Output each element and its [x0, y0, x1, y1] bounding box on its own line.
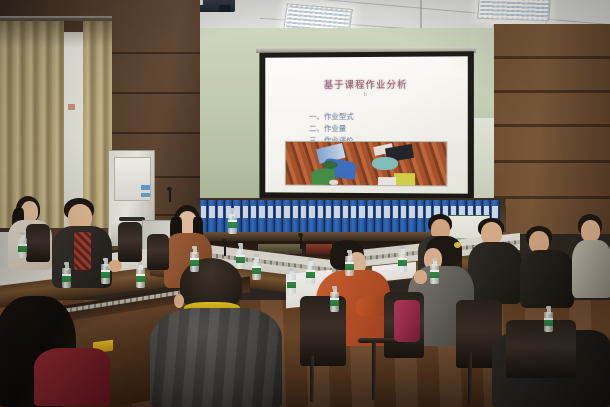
bottle-label: [330, 298, 339, 306]
air-conditioner-sticker: [141, 185, 150, 190]
binder: [267, 200, 275, 234]
bottle-label: [18, 244, 27, 252]
checked-shirt: [74, 232, 91, 270]
bottle-cap: [432, 258, 437, 261]
bottle-cap: [400, 246, 405, 249]
slide-embedded-photo: [285, 141, 447, 186]
slide-subtitle: b: [265, 92, 468, 99]
bottle-cap: [138, 262, 143, 265]
wood-panel-seam: [494, 160, 610, 163]
chair-leg: [310, 356, 314, 402]
desk-microphone-head: [222, 239, 227, 243]
bottle-cap: [238, 243, 243, 246]
water-bottle: [306, 258, 315, 284]
water-bottle: [18, 232, 27, 258]
binder: [350, 200, 358, 234]
bottle-cap: [546, 306, 551, 309]
bottle-cap: [230, 208, 235, 211]
water-bottle: [136, 262, 145, 288]
desk-microphone-head: [167, 187, 172, 191]
head: [581, 220, 600, 242]
desk-microphone-stem: [300, 236, 302, 249]
chair-leg: [372, 342, 376, 400]
binder: [400, 200, 408, 234]
projection-screen: 基于课程作业分析 b 一、作业型式 二、作业量 三、作业评价: [259, 51, 474, 201]
water-bottle: [287, 268, 296, 294]
person-right-edge-light: [572, 214, 610, 300]
chair: [118, 222, 142, 262]
binder: [250, 200, 258, 234]
water-bottle: [430, 258, 439, 284]
bottle-label: [62, 274, 71, 282]
binder: [258, 200, 266, 234]
person-far-right-edge: [520, 226, 576, 310]
binder: [325, 200, 333, 234]
conference-room-photo: 基于课程作业分析 b 一、作业型式 二、作业量 三、作业评价: [0, 0, 610, 407]
water-bottle: [101, 258, 110, 284]
right-wall-wood-panel: [494, 24, 610, 234]
bottle-label: [287, 280, 296, 288]
bottle-label: [398, 258, 407, 266]
desk-microphone-stem: [224, 242, 226, 256]
binder: [358, 200, 366, 234]
projection-screen-surface: 基于课程作业分析 b 一、作业型式 二、作业量 三、作业评价: [265, 56, 468, 193]
slide-photo-yellow-object: [394, 173, 415, 185]
bottle-cap: [308, 258, 313, 261]
slide-photo-paper: [378, 177, 396, 186]
water-bottle: [236, 243, 245, 269]
binder: [375, 200, 383, 234]
bottle-label: [544, 318, 553, 326]
water-bottle: [252, 254, 261, 280]
slide-title: 基于课程作业分析: [265, 77, 468, 92]
bottle-cap: [103, 258, 108, 261]
slide-photo-paper: [329, 180, 339, 185]
bottle-label: [430, 270, 439, 278]
slide-bullet-item: 二、作业量: [309, 123, 354, 135]
binder: [408, 200, 416, 234]
torso: [520, 250, 574, 308]
slide-photo-person-teal: [372, 157, 398, 170]
water-bottle: [62, 262, 71, 288]
bottle-label: [228, 220, 237, 228]
wood-panel-seam: [494, 90, 610, 93]
air-conditioner-sticker: [141, 193, 150, 197]
bottle-label: [252, 266, 261, 274]
bottle-cap: [20, 232, 25, 235]
bottle-cap: [254, 254, 259, 257]
bottle-label: [190, 258, 199, 266]
bottle-cap: [332, 286, 337, 289]
chair: [506, 320, 576, 378]
water-bottle: [345, 250, 354, 276]
ceiling-light-panel-5: [477, 0, 551, 21]
bottle-label: [306, 270, 315, 278]
binder: [217, 200, 225, 234]
bottle-cap: [192, 246, 197, 249]
hand: [414, 270, 427, 284]
window-object: [68, 104, 75, 110]
hair-clip: [454, 242, 461, 248]
bottle-label: [101, 270, 110, 278]
bottle-label: [345, 262, 354, 270]
desk-microphone-stem: [169, 190, 171, 202]
chair-leg: [468, 352, 472, 404]
curtain-shadow: [0, 18, 112, 48]
pink-handbag: [394, 300, 420, 342]
ear: [174, 294, 184, 308]
binder: [342, 200, 350, 234]
chair: [26, 224, 50, 262]
water-bottle: [330, 286, 339, 312]
bottle-cap: [64, 262, 69, 265]
binder: [275, 200, 283, 234]
binder: [292, 200, 300, 234]
slide-photo-head: [322, 161, 336, 169]
slide-bullet-item: 一、作业型式: [309, 111, 354, 123]
binder: [367, 200, 375, 234]
binder: [317, 200, 325, 234]
bottle-cap: [347, 250, 352, 253]
torso: [572, 240, 610, 298]
woman-maroon-foreground: [0, 296, 114, 407]
desk-microphone-head: [298, 233, 303, 237]
bottle-cap: [289, 268, 294, 271]
water-bottle: [190, 246, 199, 272]
torso-maroon: [34, 348, 110, 406]
water-bottle: [398, 246, 407, 272]
binder: [242, 200, 250, 234]
water-bottle: [228, 208, 237, 234]
binder: [392, 200, 400, 234]
wood-panel-seam: [494, 124, 610, 127]
binder: [333, 200, 341, 234]
torso-hoodie: [150, 308, 282, 407]
chair: [300, 296, 346, 366]
binder: [383, 200, 391, 234]
binder: [283, 200, 291, 234]
water-bottle: [544, 306, 553, 332]
bottle-label: [136, 274, 145, 282]
projector-lens: [219, 5, 231, 12]
wood-panel-seam: [494, 56, 610, 59]
binder: [308, 200, 316, 234]
bottle-label: [236, 255, 245, 263]
wood-panel-seam: [494, 196, 610, 199]
man-gray-hoodie-foreground: [150, 258, 290, 407]
binder: [300, 200, 308, 234]
